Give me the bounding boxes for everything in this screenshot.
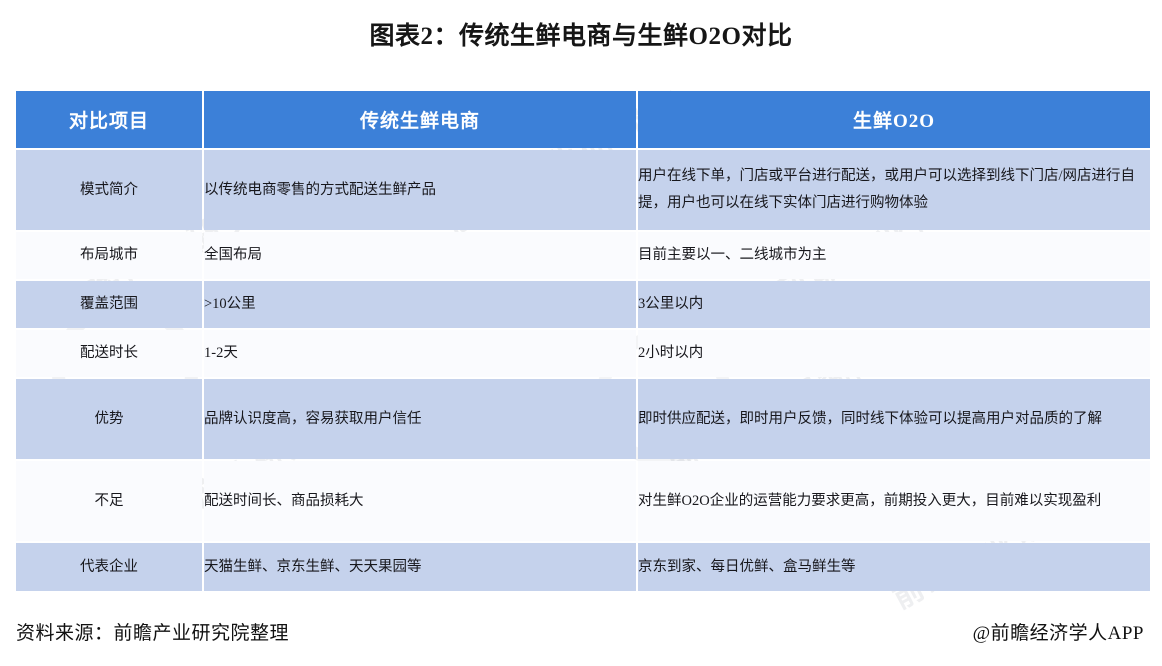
table-row: 优势 品牌认识度高，容易获取用户信任 即时供应配送，即时用户反馈，同时线下体验可…: [16, 379, 1150, 459]
row-traditional-value: 天猫生鲜、京东生鲜、天天果园等: [204, 543, 636, 591]
row-traditional-value: 品牌认识度高，容易获取用户信任: [204, 379, 636, 459]
comparison-table: 对比项目 传统生鲜电商 生鲜O2O 模式简介 以传统电商零售的方式配送生鲜产品 …: [14, 89, 1152, 593]
row-item-label: 覆盖范围: [16, 281, 202, 328]
table-row: 覆盖范围 >10公里 3公里以内: [16, 281, 1150, 328]
chart-page: 图表2：传统生鲜电商与生鲜O2O对比 对比项目 传统生鲜电商 生鲜O2O 模式简…: [0, 0, 1162, 666]
source-note: 资料来源：前瞻产业研究院整理: [16, 618, 289, 645]
row-item-label: 代表企业: [16, 543, 202, 591]
table-body: 模式简介 以传统电商零售的方式配送生鲜产品 用户在线下单，门店或平台进行配送，或…: [16, 150, 1150, 591]
row-item-label: 布局城市: [16, 232, 202, 279]
page-title: 图表2：传统生鲜电商与生鲜O2O对比: [0, 0, 1162, 52]
comparison-table-container: 对比项目 传统生鲜电商 生鲜O2O 模式简介 以传统电商零售的方式配送生鲜产品 …: [14, 89, 1148, 593]
row-item-label: 优势: [16, 379, 202, 459]
table-row: 不足 配送时间长、商品损耗大 对生鲜O2O企业的运营能力要求更高，前期投入更大，…: [16, 461, 1150, 541]
column-header-item: 对比项目: [16, 91, 202, 148]
table-row: 代表企业 天猫生鲜、京东生鲜、天天果园等 京东到家、每日优鲜、盒马鲜生等: [16, 543, 1150, 591]
row-traditional-value: 全国布局: [204, 232, 636, 279]
row-traditional-value: 1-2天: [204, 330, 636, 377]
column-header-o2o: 生鲜O2O: [638, 91, 1150, 148]
app-credit: @前瞻经济学人APP: [973, 618, 1144, 645]
row-item-label: 模式简介: [16, 150, 202, 230]
row-item-label: 配送时长: [16, 330, 202, 377]
row-o2o-value: 目前主要以一、二线城市为主: [638, 232, 1150, 279]
row-item-label: 不足: [16, 461, 202, 541]
table-header-row: 对比项目 传统生鲜电商 生鲜O2O: [16, 91, 1150, 148]
row-o2o-value: 用户在线下单，门店或平台进行配送，或用户可以选择到线下门店/网店进行自提，用户也…: [638, 150, 1150, 230]
row-o2o-value: 京东到家、每日优鲜、盒马鲜生等: [638, 543, 1150, 591]
table-row: 模式简介 以传统电商零售的方式配送生鲜产品 用户在线下单，门店或平台进行配送，或…: [16, 150, 1150, 230]
table-row: 布局城市 全国布局 目前主要以一、二线城市为主: [16, 232, 1150, 279]
row-o2o-value: 3公里以内: [638, 281, 1150, 328]
table-header: 对比项目 传统生鲜电商 生鲜O2O: [16, 91, 1150, 148]
row-traditional-value: 配送时间长、商品损耗大: [204, 461, 636, 541]
column-header-traditional: 传统生鲜电商: [204, 91, 636, 148]
row-o2o-value: 即时供应配送，即时用户反馈，同时线下体验可以提高用户对品质的了解: [638, 379, 1150, 459]
row-o2o-value: 2小时以内: [638, 330, 1150, 377]
row-traditional-value: 以传统电商零售的方式配送生鲜产品: [204, 150, 636, 230]
row-o2o-value: 对生鲜O2O企业的运营能力要求更高，前期投入更大，目前难以实现盈利: [638, 461, 1150, 541]
table-row: 配送时长 1-2天 2小时以内: [16, 330, 1150, 377]
row-traditional-value: >10公里: [204, 281, 636, 328]
footer: 资料来源：前瞻产业研究院整理 @前瞻经济学人APP: [0, 608, 1162, 654]
